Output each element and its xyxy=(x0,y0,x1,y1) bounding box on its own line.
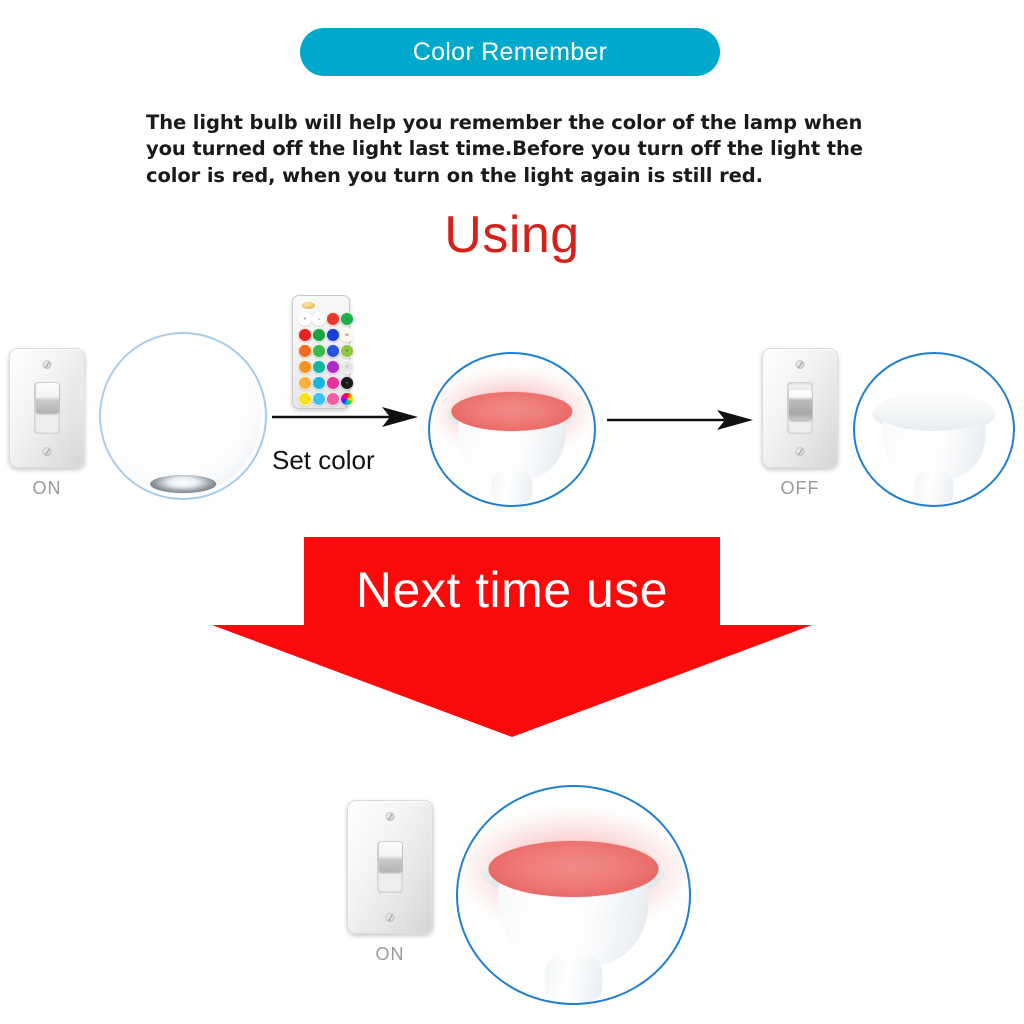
header-pill: Color Remember xyxy=(300,28,720,76)
bulb-circle-red-lit xyxy=(428,352,596,507)
remote-button-fade[interactable]: ❀ xyxy=(340,376,354,390)
bulb-neck xyxy=(544,956,602,1002)
bulb-face-red xyxy=(488,841,659,897)
bulb-base-icon xyxy=(150,475,216,493)
remote-button-orange[interactable] xyxy=(298,344,312,358)
bulb-unlit-body xyxy=(876,387,993,502)
light-switch-plate-on-2[interactable] xyxy=(347,800,433,934)
toggle-lever-icon xyxy=(789,390,812,420)
screw-top-icon xyxy=(386,812,395,821)
remote-button-teal[interactable] xyxy=(312,360,326,374)
remote-button-spring-green[interactable] xyxy=(312,344,326,358)
light-switch-plate-on-1[interactable] xyxy=(9,348,85,468)
remote-button-icon: ☼ xyxy=(317,317,321,321)
bulb-neck xyxy=(914,472,954,504)
screw-bottom-icon xyxy=(43,447,52,456)
remote-button-icon: ✧ xyxy=(345,365,348,369)
switch-group-off: OFF xyxy=(757,348,843,499)
remote-button-strobe[interactable]: ✧ xyxy=(340,360,354,374)
remote-button-white[interactable]: W xyxy=(340,328,354,342)
bulb-white-glow-body xyxy=(104,337,261,494)
remote-button-icon: W xyxy=(345,333,349,337)
page-title: Color Remember xyxy=(413,38,608,67)
switch-group-on-2: ON xyxy=(340,800,440,965)
next-time-use-banner: Next time use xyxy=(212,537,812,737)
remote-button-icon: ✦ xyxy=(345,349,348,353)
bulb-red-body-result xyxy=(488,835,659,999)
remote-led-icon xyxy=(302,302,315,309)
remote-button-green[interactable] xyxy=(312,328,326,342)
rgb-remote-control[interactable]: ☀☼–●W✦✧❀ SMART LIGHTING REMOTE CONTROLLE… xyxy=(292,295,350,409)
remote-button-icon: ● xyxy=(346,317,348,321)
remote-button-magenta[interactable] xyxy=(326,376,340,390)
arrow-to-off xyxy=(605,405,755,435)
screw-top-icon xyxy=(43,360,52,369)
remote-button-amber[interactable] xyxy=(298,360,312,374)
remote-button-royal-blue[interactable] xyxy=(326,344,340,358)
remote-button-power-off[interactable]: – xyxy=(326,312,340,326)
intro-paragraph: The light bulb will help you remember th… xyxy=(146,110,886,190)
bulb-circle-unlit xyxy=(853,352,1015,507)
remote-button-brightness-up[interactable]: ☀ xyxy=(298,312,312,326)
remote-button-cyan[interactable] xyxy=(312,376,326,390)
screw-bottom-icon xyxy=(796,447,805,456)
switch-toggle-on-1[interactable] xyxy=(34,382,60,434)
switch-caption-on-2: ON xyxy=(340,944,440,965)
switch-caption-off: OFF xyxy=(757,478,843,499)
toggle-lever-icon xyxy=(36,383,59,413)
switch-toggle-on-2[interactable] xyxy=(377,841,403,893)
toggle-lever-icon xyxy=(379,842,402,872)
remote-button-flash[interactable]: ✦ xyxy=(340,344,354,358)
remote-button-gold[interactable] xyxy=(298,376,312,390)
bulb-circle-white-glow xyxy=(99,332,267,500)
screw-bottom-icon xyxy=(386,913,395,922)
remote-button-icon: ❀ xyxy=(345,381,348,385)
bulb-face-unlit xyxy=(876,392,993,431)
remote-button-power-on[interactable]: ● xyxy=(340,312,354,326)
light-switch-plate-off[interactable] xyxy=(762,348,838,468)
switch-group-on-1: ON xyxy=(4,348,90,499)
screw-top-icon xyxy=(796,360,805,369)
switch-toggle-off[interactable] xyxy=(787,382,813,434)
bulb-circle-red-lit-result xyxy=(456,785,691,1005)
using-section-title: Using xyxy=(0,205,1024,265)
remote-button-grid[interactable]: ☀☼–●W✦✧❀ xyxy=(298,312,344,394)
set-color-label: Set color xyxy=(272,445,375,476)
switch-caption-on-1: ON xyxy=(4,478,90,499)
remote-button-red[interactable] xyxy=(298,328,312,342)
next-time-use-label: Next time use xyxy=(212,561,812,619)
bulb-red-body xyxy=(451,387,572,502)
remote-button-icon: ☀ xyxy=(303,317,307,321)
bulb-neck xyxy=(491,472,532,504)
bulb-face-red xyxy=(451,392,572,431)
remote-button-brightness-down[interactable]: ☼ xyxy=(312,312,326,326)
remote-button-violet[interactable] xyxy=(326,360,340,374)
arrow-set-color xyxy=(270,402,420,432)
remote-button-blue[interactable] xyxy=(326,328,340,342)
remote-button-icon: – xyxy=(332,317,334,321)
